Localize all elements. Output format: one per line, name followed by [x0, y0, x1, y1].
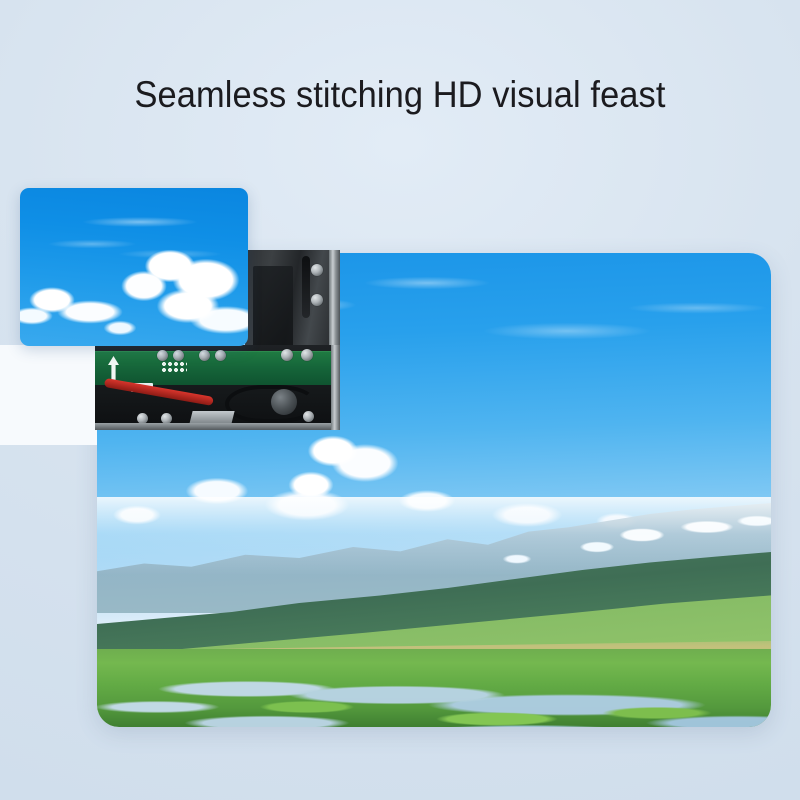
screw-icon [301, 349, 313, 361]
promo-banner: Seamless stitching HD visual feast [0, 0, 800, 800]
sky-closeup-inset [20, 188, 248, 346]
cutaway-backdrop [0, 345, 97, 445]
page-title: Seamless stitching HD visual feast [28, 72, 772, 118]
housing-cable [302, 256, 310, 318]
grass-islands [97, 649, 771, 727]
inset-cloud-layer [20, 188, 248, 346]
screw-icon [173, 350, 184, 361]
screw-icon [281, 349, 293, 361]
screw-icon [199, 350, 210, 361]
capacitor [271, 389, 297, 415]
screw-icon [311, 294, 323, 306]
dot-matrix-marking [161, 361, 187, 374]
screw-icon [303, 411, 314, 422]
housing-base-rail [95, 423, 340, 430]
panel-pcb-cutaway [95, 345, 340, 430]
pcb-edge-strip [331, 345, 340, 430]
screw-icon [215, 350, 226, 361]
up-arrow-icon [107, 356, 120, 380]
screw-icon [311, 264, 323, 276]
screw-icon [157, 350, 168, 361]
